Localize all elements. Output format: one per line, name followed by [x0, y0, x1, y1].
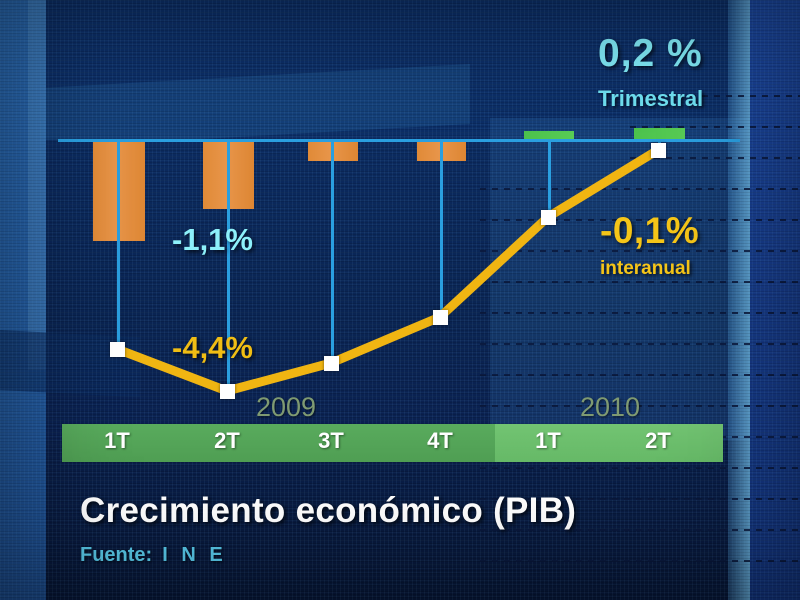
broadcast-graphic: 0,2 % Trimestral -0,1% interanual -1,1% …: [0, 0, 800, 600]
quarter-label-2: 3T: [291, 428, 371, 454]
bar-low-annotation: -1,1%: [172, 222, 253, 258]
source-line: Fuente:I N E: [80, 544, 227, 567]
quarter-label-0: 1T: [77, 428, 157, 454]
quarterly-caption: Trimestral: [598, 86, 703, 112]
line-marker-3: [433, 310, 448, 325]
line-low-annotation: -4,4%: [172, 330, 253, 366]
line-marker-4: [541, 210, 556, 225]
line-marker-2: [324, 356, 339, 371]
quarterly-value: 0,2 %: [598, 32, 703, 76]
year-label-2010: 2010: [580, 392, 640, 423]
year-label-2009: 2009: [256, 392, 316, 423]
quarter-label-5: 2T: [618, 428, 698, 454]
quarter-label-1: 2T: [187, 428, 267, 454]
annual-caption: interanual: [600, 258, 691, 280]
page-title: Crecimiento económico (PIB): [80, 491, 576, 531]
line-marker-5: [651, 143, 666, 158]
source-label: Fuente:: [80, 544, 152, 566]
line-marker-0: [110, 342, 125, 357]
line-marker-1: [220, 384, 235, 399]
quarter-label-3: 4T: [400, 428, 480, 454]
source-value: I N E: [152, 544, 226, 566]
quarter-label-4: 1T: [508, 428, 588, 454]
annual-value: -0,1%: [600, 210, 699, 252]
